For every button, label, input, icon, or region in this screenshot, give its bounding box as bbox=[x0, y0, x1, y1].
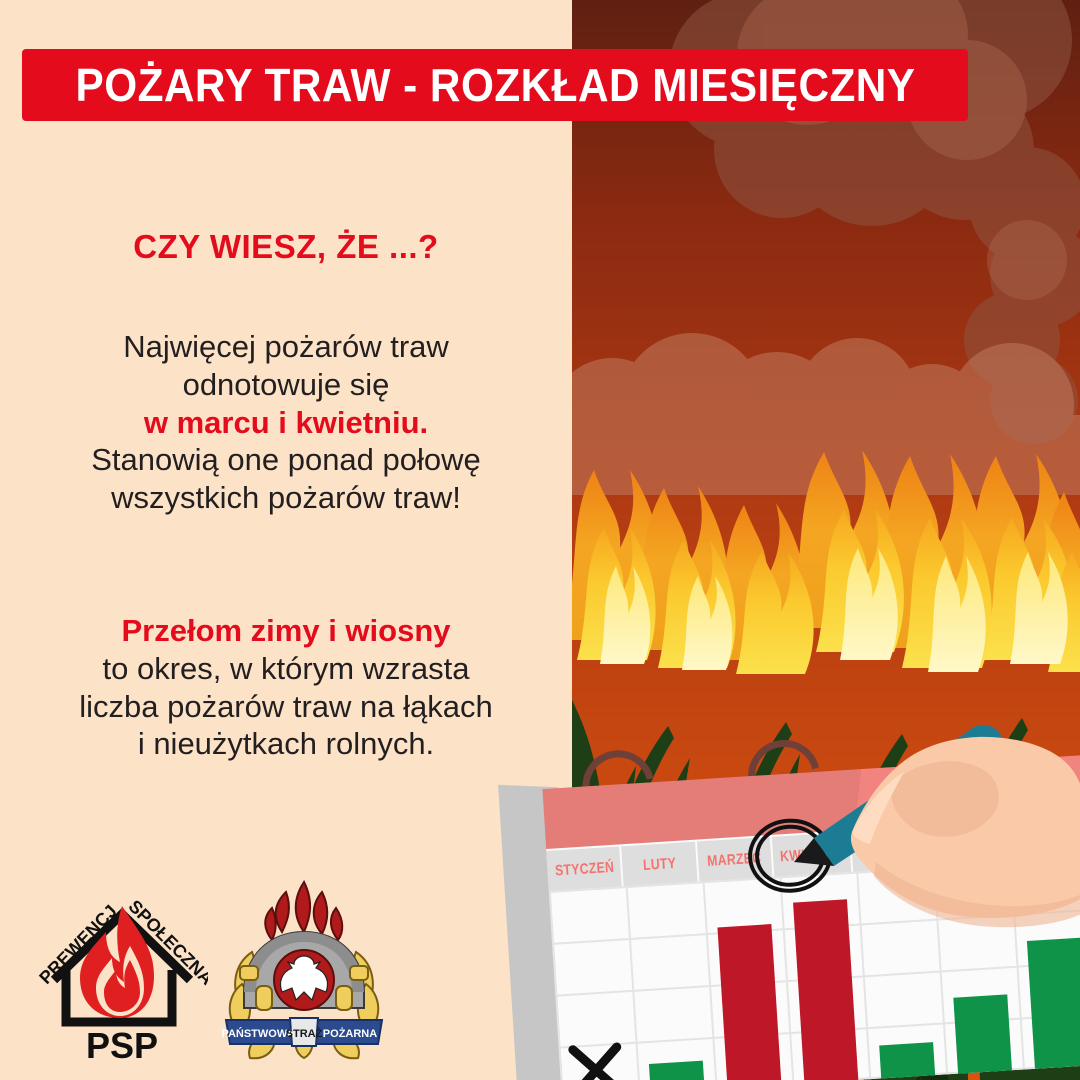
banner-title-text: POŻARY TRAW - ROZKŁAD MIESIĘCZNY bbox=[75, 58, 915, 112]
month-label: STYCZEŃ bbox=[554, 858, 614, 879]
kicker-heading: CZY WIESZ, ŻE ...? bbox=[0, 228, 572, 266]
bar-maj bbox=[879, 1042, 935, 1078]
prewencja-spoleczna-logo: PREWENCJA SPOŁECZNA PSP bbox=[36, 892, 208, 1064]
para2-highlight: Przełom zimy i wiosny bbox=[121, 613, 450, 648]
hand-with-pen bbox=[756, 716, 1080, 946]
hand-icon bbox=[851, 737, 1080, 927]
psp-banner-mid-text: STRAŻ bbox=[286, 1027, 323, 1040]
bar-marzec bbox=[717, 924, 781, 1080]
para2-line2: liczba pożarów traw na łąkach bbox=[79, 689, 493, 724]
paragraph-one: Najwięcej pożarów traw odnotowuje się w … bbox=[14, 328, 558, 517]
bar-lipiec bbox=[1027, 938, 1080, 1069]
x-cross-icon bbox=[566, 1041, 625, 1080]
logo-acronym-text: PSP bbox=[86, 1025, 158, 1064]
psp-banner-right-text: POŻARNA bbox=[323, 1027, 377, 1040]
month-cell-luty[interactable]: LUTY bbox=[621, 842, 699, 887]
psp-emblem-logo: PAŃSTWOWA STRAŻ POŻARNA bbox=[212, 880, 396, 1066]
para1-highlight: w marcu i kwietniu. bbox=[144, 405, 428, 440]
para1-line1: Najwięcej pożarów traw bbox=[123, 329, 449, 364]
para2-line3: i nieużytkach rolnych. bbox=[138, 726, 434, 761]
para2-line1: to okres, w którym wzrasta bbox=[103, 651, 470, 686]
bar-luty bbox=[649, 1061, 705, 1080]
psp-banner-left-text: PAŃSTWOWA bbox=[221, 1027, 294, 1040]
infographic-root: CZY WIESZ, ŻE ...? Najwięcej pożarów tra… bbox=[0, 0, 1080, 1080]
para1-line3: Stanowią one ponad połowę bbox=[91, 442, 481, 477]
title-banner: POŻARY TRAW - ROZKŁAD MIESIĘCZNY bbox=[22, 49, 968, 121]
month-cell-styczen[interactable]: STYCZEŃ bbox=[546, 846, 624, 891]
paragraph-two: Przełom zimy i wiosny to okres, w którym… bbox=[14, 612, 558, 763]
bar-czerwiec bbox=[953, 994, 1012, 1073]
left-text-column: CZY WIESZ, ŻE ...? Najwięcej pożarów tra… bbox=[0, 0, 572, 1080]
para1-line2: odnotowuje się bbox=[183, 367, 390, 402]
month-label: LUTY bbox=[642, 854, 676, 873]
para1-line4: wszystkich pożarów traw! bbox=[111, 480, 461, 515]
